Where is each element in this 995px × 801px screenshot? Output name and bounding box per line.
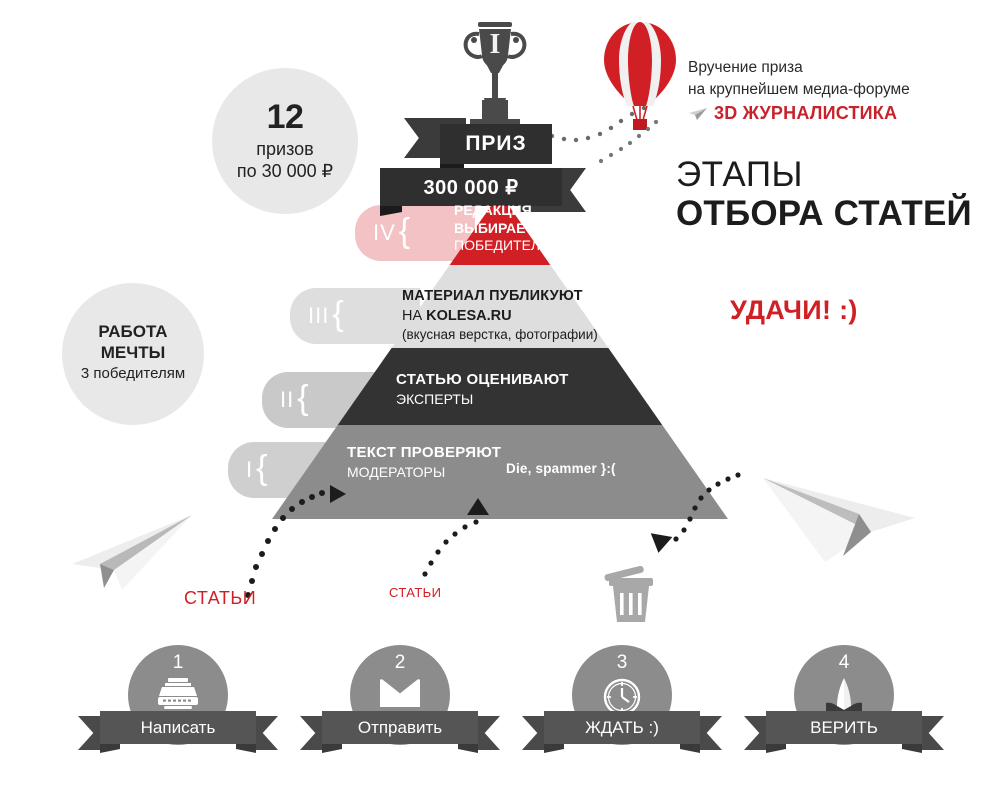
balloon-caption: Вручение приза на крупнейшем медиа-форум… (688, 57, 910, 124)
step-4-ribbon: ВЕРИТЬ (744, 711, 944, 755)
level-2-line2: ЭКСПЕРТЫ (396, 390, 569, 409)
level-4-line1: РЕДАКЦИЯ (454, 202, 560, 220)
prize-ribbon-label: ПРИЗ (440, 124, 552, 164)
step-2-label: Отправить (322, 711, 478, 744)
articles-dotted-path-center (405, 470, 515, 580)
step-2-ribbon-fold-right (458, 744, 478, 753)
balloon-brand: 3D ЖУРНАЛИСТИКА (688, 103, 910, 124)
prize-amount-label: 300 000 ₽ (380, 168, 562, 206)
level-2-line1: СТАТЬЮ ОЦЕНИВАЮТ (396, 370, 569, 390)
balloon-caption-line1: Вручение приза (688, 57, 910, 79)
step-3-ribbon: ЖДАТЬ :) (522, 711, 722, 755)
infographic-poster: 12 призов по 30 000 ₽ РАБОТА МЕЧТЫ 3 поб… (0, 0, 995, 801)
prizes-amount: по 30 000 ₽ (237, 160, 333, 183)
paper-plane-icon-left (70, 512, 195, 592)
level-4-line2: ВЫБИРАЕТ (454, 220, 560, 238)
level-3-line3: (вкусная верстка, фотографии) (402, 326, 598, 344)
pyramid-text-1: ТЕКСТ ПРОВЕРЯЮТ МОДЕРАТОРЫ (347, 443, 501, 482)
step-3-ribbon-fold-left (544, 744, 564, 753)
envelope-icon (378, 676, 422, 715)
step-4[interactable]: 4 ВЕРИТЬ (744, 645, 944, 755)
step-3[interactable]: 3 ЖДАТ (522, 645, 722, 755)
paper-plane-icon (688, 107, 708, 121)
level-1-line2: МОДЕРАТОРЫ (347, 463, 501, 482)
pyramid-text-2: СТАТЬЮ ОЦЕНИВАЮТ ЭКСПЕРТЫ (396, 370, 569, 409)
step-4-number: 4 (839, 653, 850, 672)
step-1-ribbon: Написать (78, 711, 278, 755)
prizes-count: 12 (267, 100, 304, 134)
step-2-ribbon: Отправить (300, 711, 500, 755)
step-1-ribbon-fold-right (236, 744, 256, 753)
step-1-label: Написать (100, 711, 256, 744)
level-4-line3: ПОБЕДИТЕЛЕЙ (454, 237, 560, 255)
dream-job-line2: МЕЧТЫ (101, 343, 165, 363)
step-2-number: 2 (395, 653, 406, 672)
trophy-place: I (490, 29, 501, 60)
step-4-ribbon-fold-left (766, 744, 786, 753)
headline-light: ЭТАПЫ (676, 155, 972, 194)
level-1-line1: ТЕКСТ ПРОВЕРЯЮТ (347, 443, 501, 463)
step-4-label: ВЕРИТЬ (766, 711, 922, 744)
articles-label-small: СТАТЬИ (389, 585, 441, 600)
level-3-line2-prefix: НА (402, 308, 426, 324)
dream-job-line1: РАБОТА (98, 322, 167, 342)
level-3-line1: МАТЕРИАЛ ПУБЛИКУЮТ (402, 287, 598, 307)
step-1[interactable]: 1 (78, 645, 278, 755)
prize-dotted-connector (548, 100, 658, 146)
pyramid-text-3: МАТЕРИАЛ ПУБЛИКУЮТ НА KOLESA.RU (вкусная… (402, 287, 598, 344)
balloon-brand-text: 3D ЖУРНАЛИСТИКА (714, 103, 897, 124)
step-2[interactable]: 2 Отправить (300, 645, 500, 755)
step-3-label: ЖДАТЬ :) (544, 711, 700, 744)
paper-plane-icon-right (755, 470, 920, 570)
level-3-line2: НА KOLESA.RU (402, 307, 598, 327)
spam-note: Die, spammer }:( (506, 461, 616, 476)
pyramid-text-4: РЕДАКЦИЯ ВЫБИРАЕТ ПОБЕДИТЕЛЕЙ (454, 202, 560, 255)
step-1-ribbon-fold-left (100, 744, 120, 753)
step-1-number: 1 (173, 653, 184, 672)
dream-job-line3: 3 победителям (81, 363, 185, 386)
step-2-ribbon-fold-left (322, 744, 342, 753)
trash-can-icon (603, 562, 659, 624)
balloon-caption-line2: на крупнейшем медиа-форуме (688, 79, 910, 101)
level-3-site: KOLESA.RU (426, 308, 511, 324)
stat-circle-dream-job: РАБОТА МЕЧТЫ 3 победителям (62, 283, 204, 425)
step-3-ribbon-fold-right (680, 744, 700, 753)
prizes-label: призов (256, 138, 313, 161)
articles-dotted-path-left (240, 455, 350, 600)
step-4-ribbon-fold-right (902, 744, 922, 753)
good-luck-text: УДАЧИ! :) (730, 295, 858, 326)
articles-label-large: СТАТЬИ (184, 588, 256, 609)
trophy-icon: I (440, 12, 550, 130)
step-3-number: 3 (617, 653, 628, 672)
